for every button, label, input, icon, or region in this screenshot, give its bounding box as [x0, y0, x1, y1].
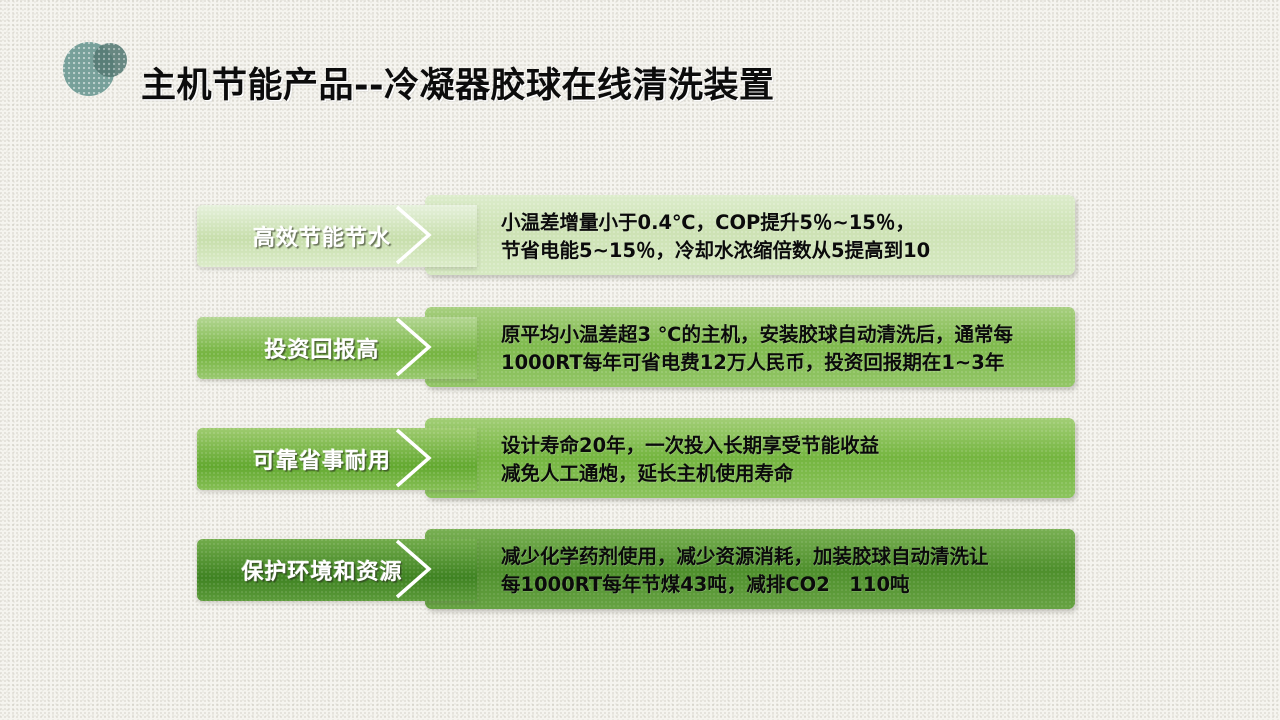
- feature-label-band[interactable]: 可靠省事耐用: [197, 428, 477, 490]
- feature-description-text: 小温差增量小于0.4℃，COP提升5％~15％， 节省电能5~15％，冷却水浓缩…: [501, 209, 1063, 265]
- feature-description-text: 设计寿命20年，一次投入长期享受节能收益 减免人工通炮，延长主机使用寿命: [501, 432, 1063, 488]
- feature-label-band[interactable]: 高效节能节水: [197, 205, 477, 267]
- feature-label-text: 可靠省事耐用: [197, 428, 447, 490]
- feature-description-text: 原平均小温差超3 ℃的主机，安装胶球自动清洗后，通常每 1000RT每年可省电费…: [501, 321, 1063, 377]
- feature-description-panel: 减少化学药剂使用，减少资源消耗，加装胶球自动清洗让 每1000RT每年节煤43吨…: [425, 529, 1075, 609]
- feature-label-text: 保护环境和资源: [197, 539, 447, 601]
- feature-description-panel: 设计寿命20年，一次投入长期享受节能收益 减免人工通炮，延长主机使用寿命: [425, 418, 1075, 498]
- feature-description-panel: 原平均小温差超3 ℃的主机，安装胶球自动清洗后，通常每 1000RT每年可省电费…: [425, 307, 1075, 387]
- feature-label-text: 投资回报高: [197, 317, 447, 379]
- feature-description-text: 减少化学药剂使用，减少资源消耗，加装胶球自动清洗让 每1000RT每年节煤43吨…: [501, 543, 1063, 599]
- content-rows: 小温差增量小于0.4℃，COP提升5％~15％， 节省电能5~15％，冷却水浓缩…: [0, 0, 1280, 720]
- feature-label-band[interactable]: 投资回报高: [197, 317, 477, 379]
- slide-canvas: 主机节能产品--冷凝器胶球在线清洗装置 小温差增量小于0.4℃，COP提升5％~…: [0, 0, 1280, 720]
- feature-label-band[interactable]: 保护环境和资源: [197, 539, 477, 601]
- feature-description-panel: 小温差增量小于0.4℃，COP提升5％~15％， 节省电能5~15％，冷却水浓缩…: [425, 195, 1075, 275]
- feature-label-text: 高效节能节水: [197, 205, 447, 267]
